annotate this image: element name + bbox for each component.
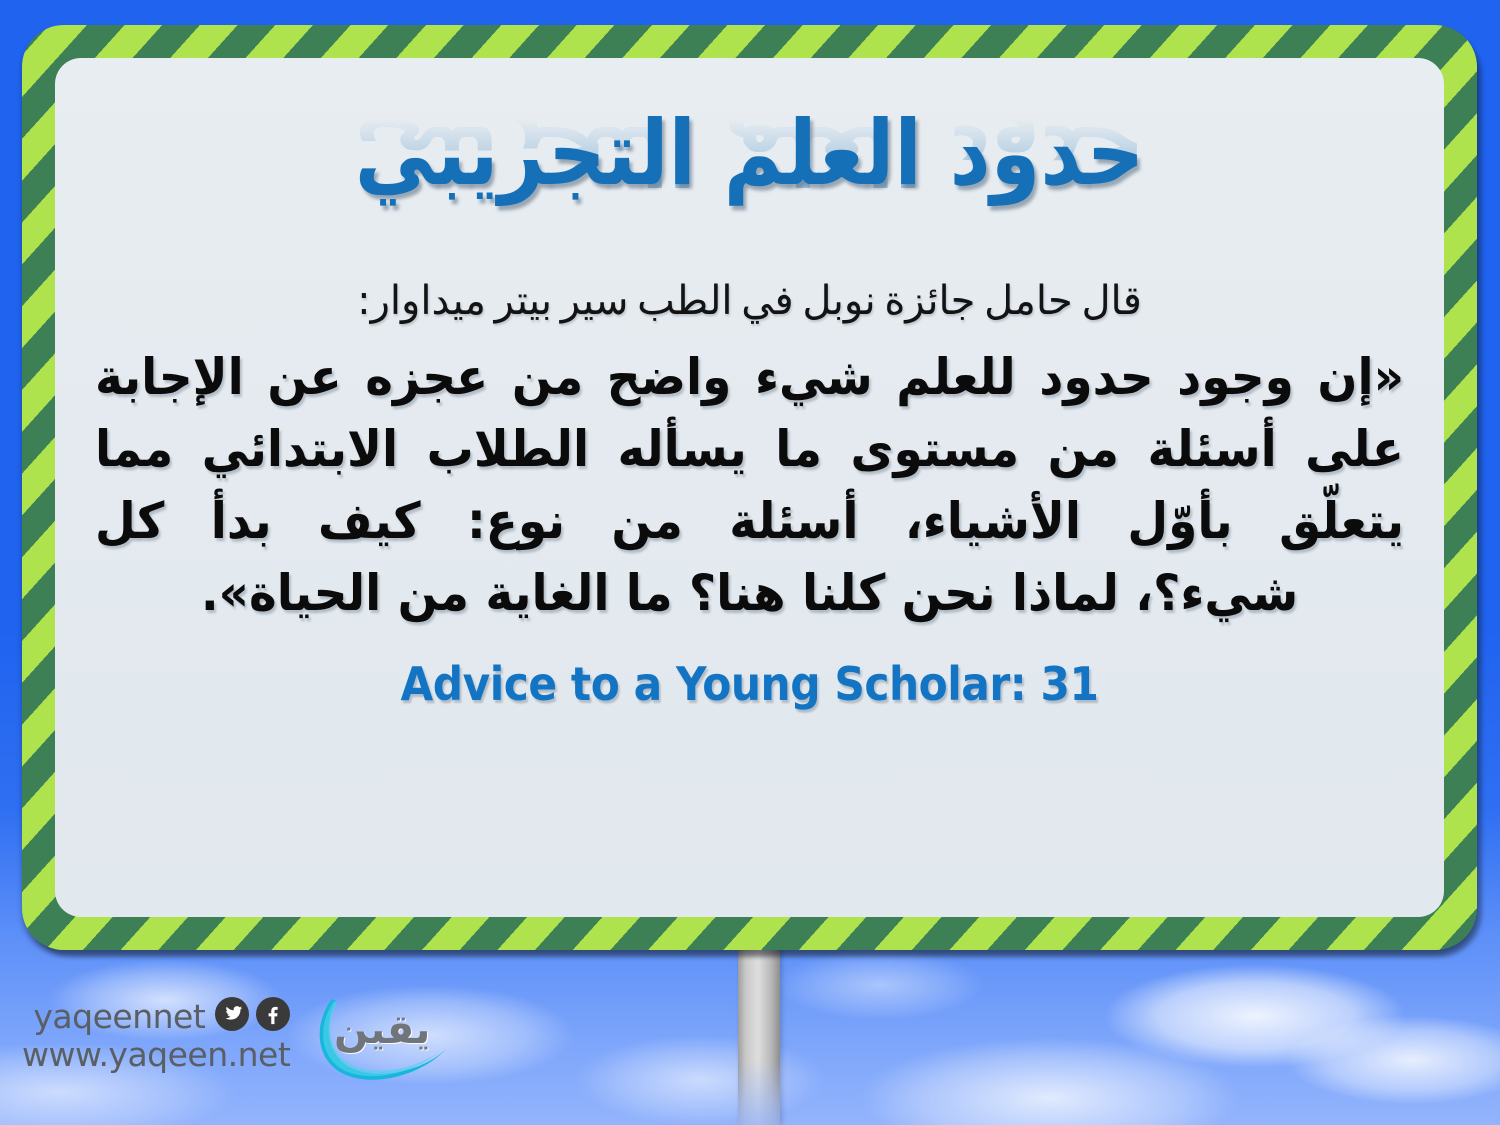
poster-canvas: حدود العلم التجريبي حدود العلم التجريبي … xyxy=(0,0,1500,1125)
quote-line: على أسئلة من مستوى ما يسأله الطلاب الابت… xyxy=(95,414,1404,486)
subtitle: قال حامل جائزة نوبل في الطب سير بيتر ميد… xyxy=(55,278,1444,324)
quote-line: يتعلّق بأوّل الأشياء، أسئلة من نوع: كيف … xyxy=(95,486,1404,558)
facebook-glyph xyxy=(262,1003,284,1025)
quote-line: «إن وجود حدود للعلم شيء واضح من عجزه عن … xyxy=(95,342,1404,414)
sign-board: حدود العلم التجريبي حدود العلم التجريبي … xyxy=(22,25,1477,950)
sign-post-fade xyxy=(738,1060,780,1125)
social-handle-text: yaqeennet xyxy=(33,997,205,1036)
social-handles: yaqeennet www.yaqeen.net xyxy=(22,997,290,1074)
sign-board-interior: حدود العلم التجريبي حدود العلم التجريبي … xyxy=(55,58,1444,917)
source-citation: Advice to a Young Scholar: 31 xyxy=(111,657,1389,711)
quote-line: شيء؟، لماذا نحن كلنا هنا؟ ما الغاية من ا… xyxy=(95,559,1404,631)
social-icons xyxy=(215,997,290,1031)
social-row: yaqeennet xyxy=(22,997,290,1037)
twitter-bird-glyph xyxy=(221,1003,243,1025)
logo-wordmark: يقين xyxy=(334,1007,430,1053)
facebook-icon[interactable] xyxy=(256,997,290,1031)
website-text: www.yaqeen.net xyxy=(22,1035,290,1074)
page-title: حدود العلم التجريبي xyxy=(55,109,1444,199)
poster-content: حدود العلم التجريبي حدود العلم التجريبي … xyxy=(55,58,1444,917)
twitter-icon[interactable] xyxy=(215,997,249,1031)
footer: يقين yaqeennet ww xyxy=(22,985,456,1085)
title-block: حدود العلم التجريبي حدود العلم التجريبي xyxy=(55,114,1444,264)
quote-body: «إن وجود حدود للعلم شيء واضح من عجزه عن … xyxy=(95,342,1404,631)
yaqeen-logo: يقين xyxy=(306,985,456,1085)
